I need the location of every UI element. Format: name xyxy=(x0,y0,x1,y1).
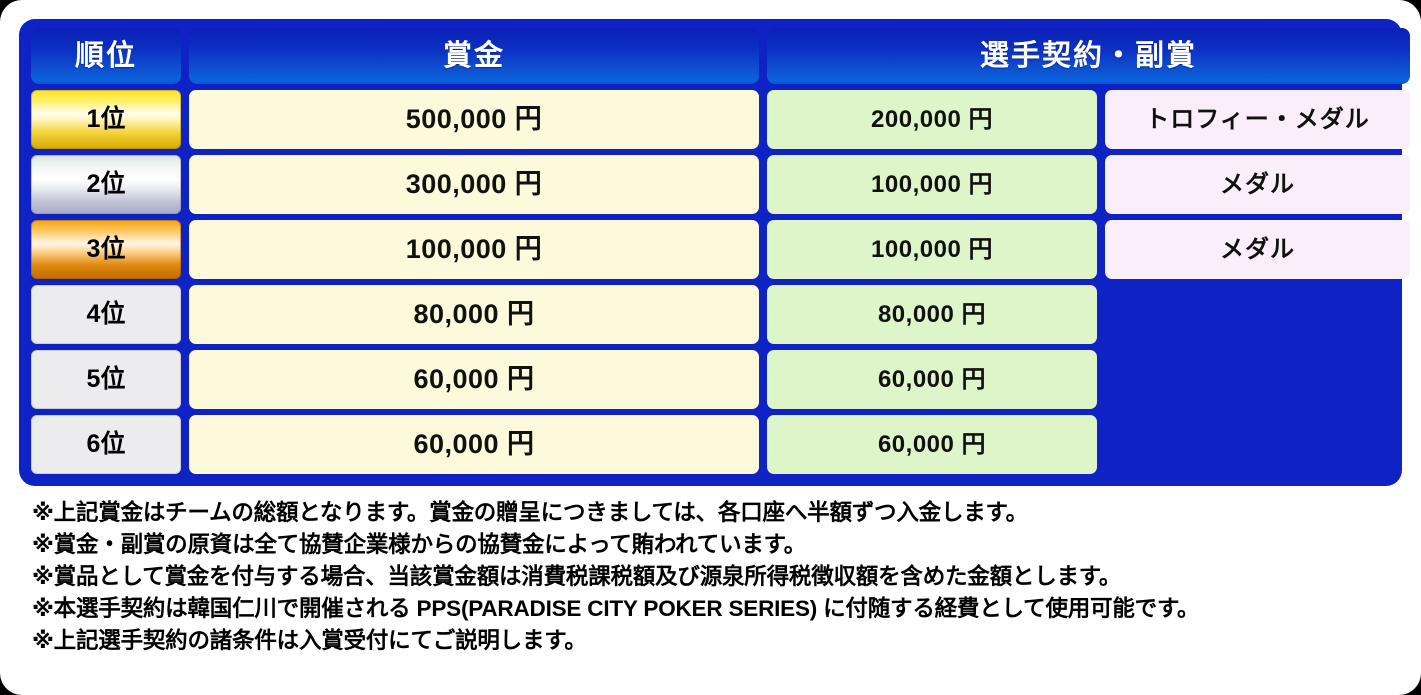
table-row: 3位 100,000 円 100,000 円 メダル xyxy=(27,217,1394,282)
footnote-item: ※上記賞金はチームの総額となります。賞金の贈呈につきましては、各口座へ半額ずつ入… xyxy=(32,497,1402,529)
prize-cell: 500,000 円 xyxy=(189,90,759,149)
extra-prize-cell-empty xyxy=(1105,285,1410,344)
prize-cell: 60,000 円 xyxy=(189,415,759,474)
contract-money-cell: 80,000 円 xyxy=(767,285,1097,344)
footnote-item: ※賞品として賞金を付与する場合、当該賞金額は消費税課税額及び源泉所得税徴収額を含… xyxy=(32,561,1402,593)
extra-prize-cell-empty xyxy=(1105,350,1410,409)
footnote-list: ※上記賞金はチームの総額となります。賞金の贈呈につきましては、各口座へ半額ずつ入… xyxy=(32,497,1402,657)
table-header-row: 順位 賞金 選手契約・副賞 xyxy=(27,25,1394,87)
prize-cell: 300,000 円 xyxy=(189,155,759,214)
rank-cell: 5位 xyxy=(31,350,181,409)
contract-money-cell: 60,000 円 xyxy=(767,415,1097,474)
rank-cell: 3位 xyxy=(31,220,181,279)
rank-cell: 4位 xyxy=(31,285,181,344)
table-row: 1位 500,000 円 200,000 円 トロフィー・メダル xyxy=(27,87,1394,152)
footnote-item: ※上記選手契約の諸条件は入賞受付にてご説明します。 xyxy=(32,625,1402,657)
page-root: 順位 賞金 選手契約・副賞 1位 500,000 円 200,000 円 トロフ… xyxy=(0,0,1421,695)
prize-cell: 100,000 円 xyxy=(189,220,759,279)
footnote-item: ※本選手契約は韓国仁川で開催される PPS(PARADISE CITY POKE… xyxy=(32,593,1402,625)
extra-prize-cell: メダル xyxy=(1105,220,1410,279)
contract-money-cell: 100,000 円 xyxy=(767,220,1097,279)
prize-cell: 60,000 円 xyxy=(189,350,759,409)
rank-cell: 2位 xyxy=(31,155,181,214)
table-row: 6位 60,000 円 60,000 円 xyxy=(27,412,1394,477)
prize-table: 順位 賞金 選手契約・副賞 1位 500,000 円 200,000 円 トロフ… xyxy=(19,19,1402,486)
contract-money-cell: 200,000 円 xyxy=(767,90,1097,149)
contract-money-cell: 60,000 円 xyxy=(767,350,1097,409)
rank-cell: 6位 xyxy=(31,415,181,474)
contract-money-cell: 100,000 円 xyxy=(767,155,1097,214)
table-row: 5位 60,000 円 60,000 円 xyxy=(27,347,1394,412)
column-header-contract: 選手契約・副賞 xyxy=(767,28,1410,84)
extra-prize-cell: メダル xyxy=(1105,155,1410,214)
column-header-rank: 順位 xyxy=(31,28,181,84)
column-header-prize: 賞金 xyxy=(189,28,759,84)
footnote-item: ※賞金・副賞の原資は全て協賛企業様からの協賛金によって賄われています。 xyxy=(32,529,1402,561)
prize-cell: 80,000 円 xyxy=(189,285,759,344)
extra-prize-cell-empty xyxy=(1105,415,1410,474)
table-row: 2位 300,000 円 100,000 円 メダル xyxy=(27,152,1394,217)
rank-cell: 1位 xyxy=(31,90,181,149)
extra-prize-cell: トロフィー・メダル xyxy=(1105,90,1410,149)
table-row: 4位 80,000 円 80,000 円 xyxy=(27,282,1394,347)
